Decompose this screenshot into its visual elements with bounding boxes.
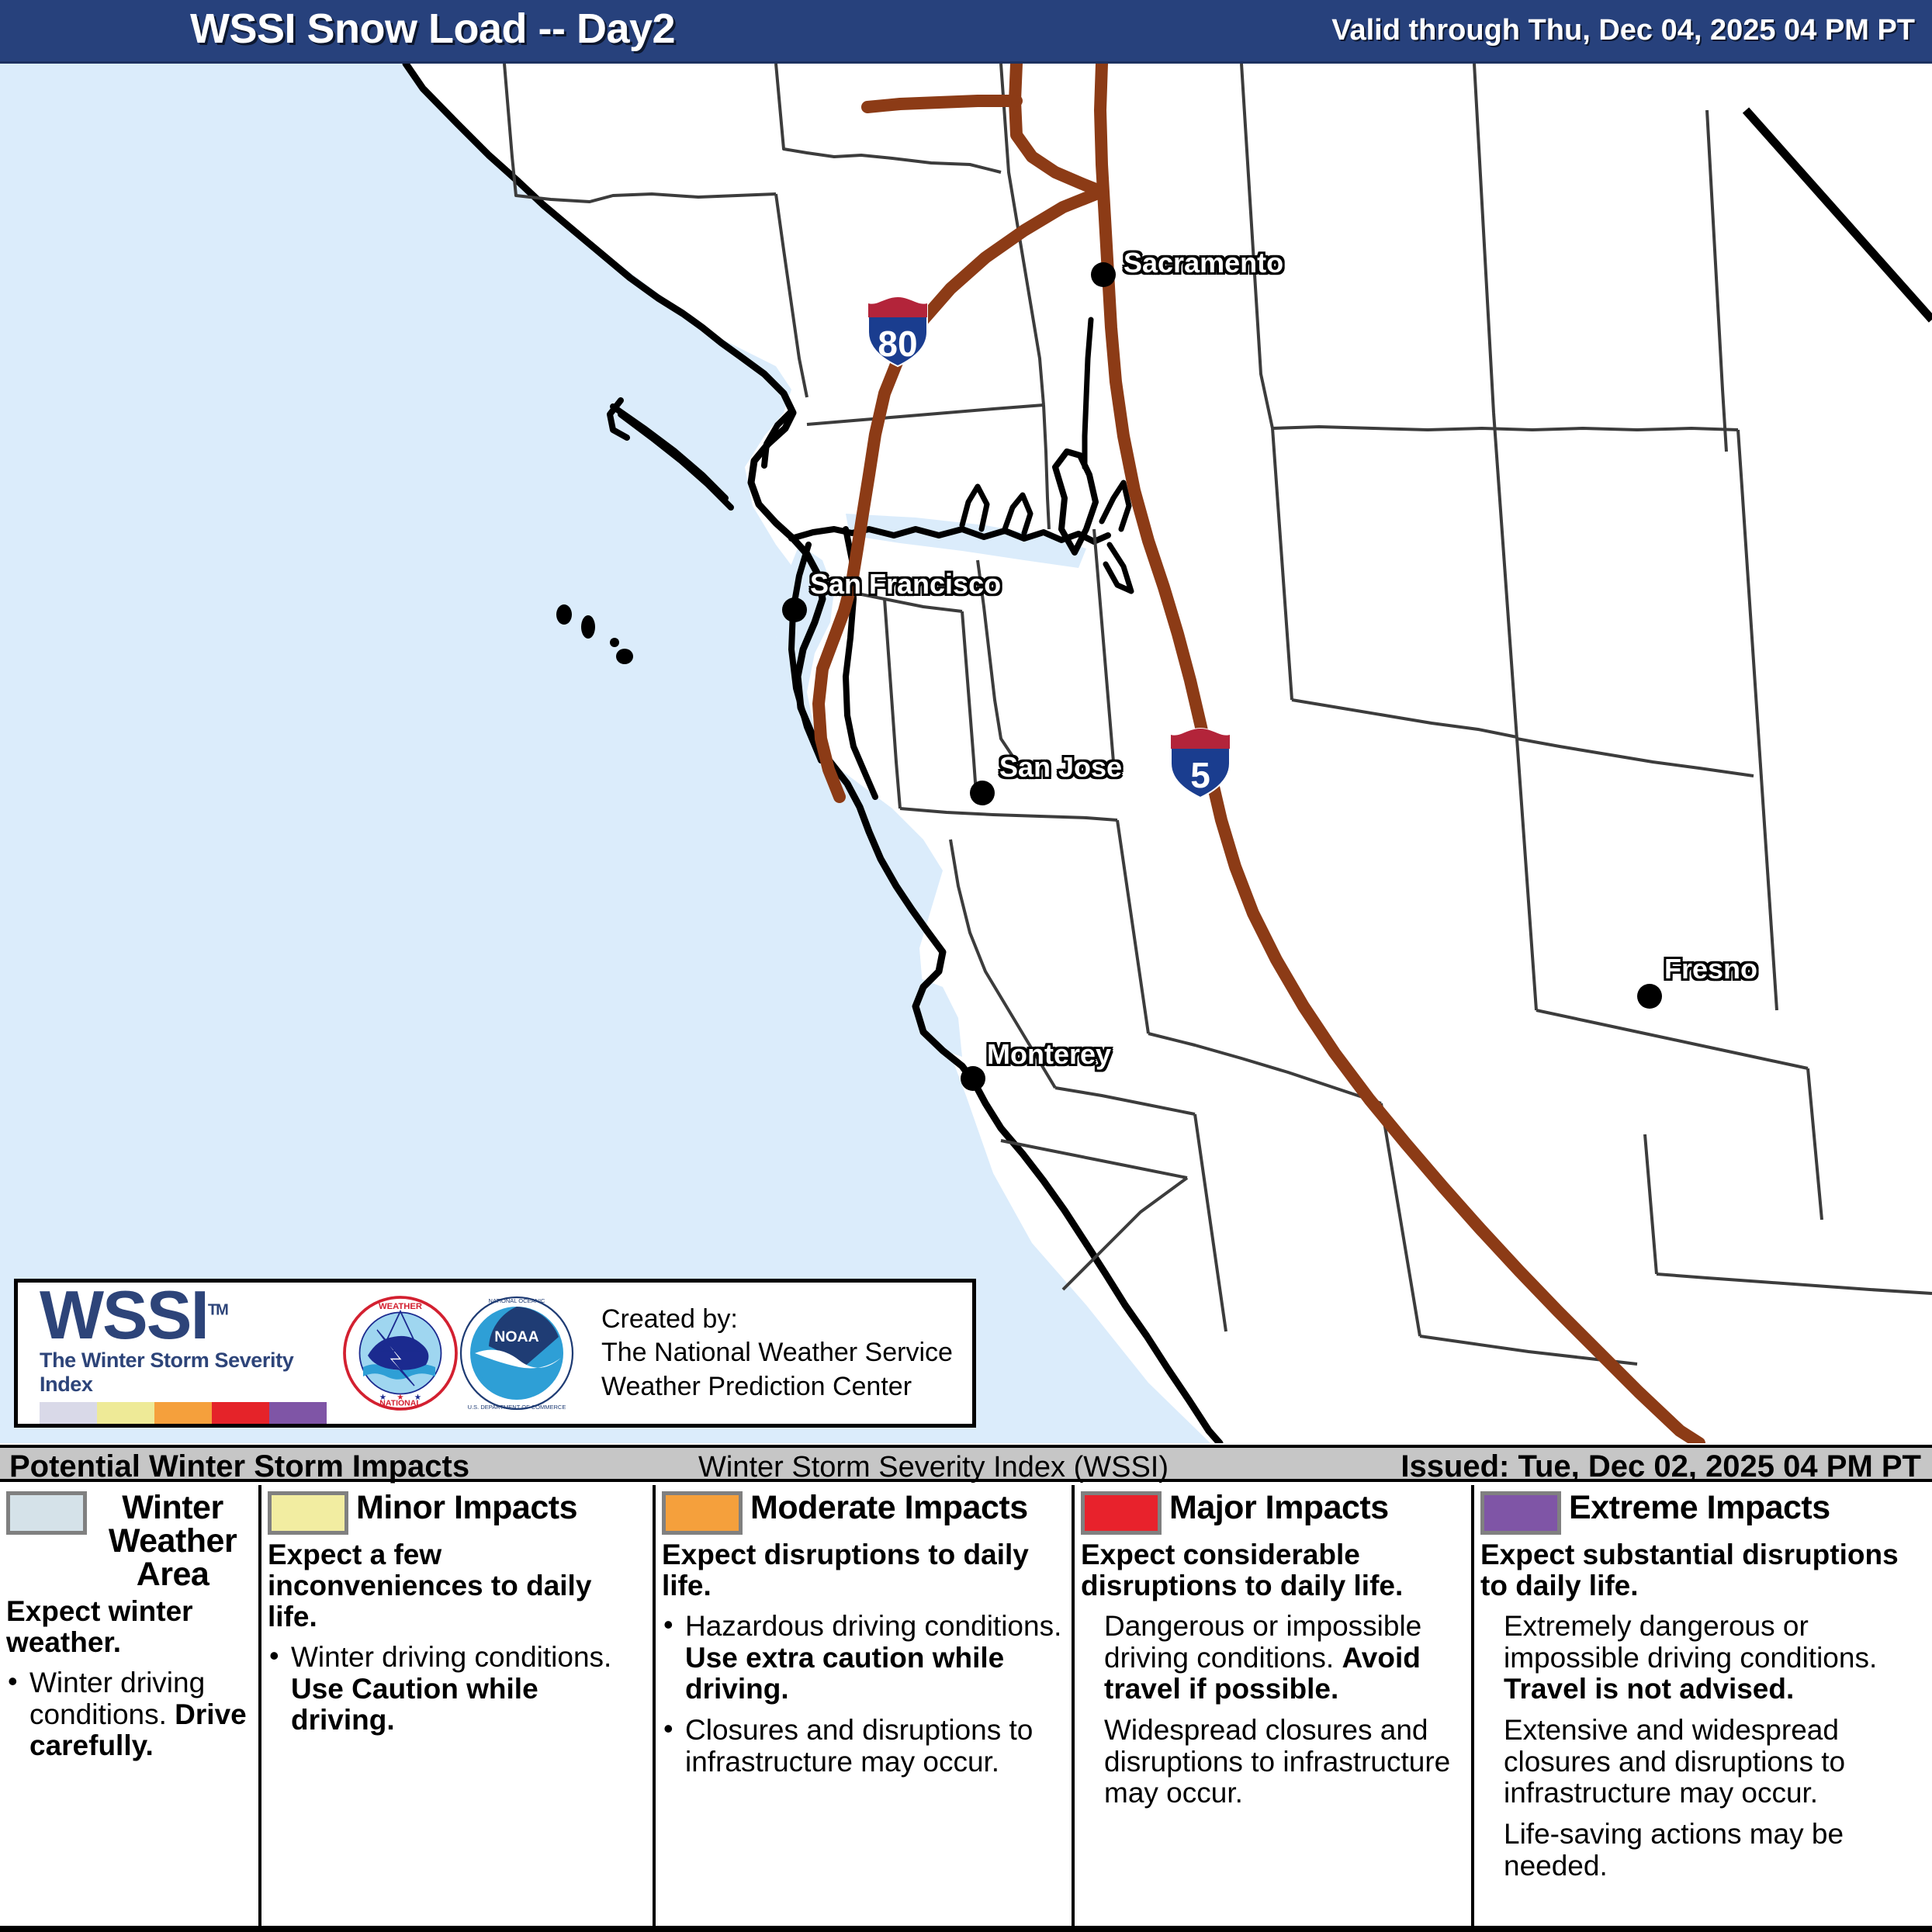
- wssi-attribution-box: WSSITM The Winter Storm Severity Index W…: [14, 1279, 976, 1428]
- swatch-major-impacts: [1081, 1491, 1162, 1535]
- list-item: Extremely dangerous or impossible drivin…: [1480, 1611, 1924, 1705]
- legend-title-moderate-impacts: Moderate Impacts: [750, 1491, 1028, 1525]
- created-by-block: Created by: The National Weather Service…: [601, 1303, 953, 1404]
- list-item: Dangerous or impossible driving conditio…: [1081, 1611, 1463, 1705]
- interstate-number-5: 5: [1170, 754, 1231, 796]
- issued-label: Issued: Tue, Dec 02, 2025 04 PM PT: [1401, 1449, 1921, 1484]
- legend-bullets-minor-impacts: Winter driving conditions. Use Caution w…: [268, 1642, 645, 1736]
- colorbar-swatch-winter: [40, 1402, 97, 1424]
- legend-bullets-winter-weather-area: Winter driving conditions. Drive careful…: [6, 1667, 251, 1762]
- legend-header: Moderate Impacts: [662, 1491, 1064, 1535]
- svg-text:★: ★: [379, 1393, 387, 1402]
- header-bar: WSSI Snow Load -- Day2 Valid through Thu…: [0, 0, 1932, 64]
- legend-title-major-impacts: Major Impacts: [1169, 1491, 1389, 1525]
- legend-bullets-extreme-impacts: Extremely dangerous or impossible drivin…: [1480, 1611, 1924, 1882]
- potential-impacts-label: Potential Winter Storm Impacts: [9, 1449, 469, 1484]
- bullet-text: Hazardous driving conditions.: [685, 1610, 1061, 1642]
- colorbar-swatch-major: [212, 1402, 269, 1424]
- interstate-shield-80: 80: [867, 296, 928, 368]
- list-item: Extensive and widespread closures and di…: [1480, 1715, 1924, 1809]
- swatch-extreme-impacts: [1480, 1491, 1561, 1535]
- list-item: Widespread closures and disruptions to i…: [1081, 1715, 1463, 1809]
- legend-column-minor-impacts[interactable]: Minor Impacts Expect a few inconvenience…: [261, 1485, 656, 1926]
- bullet-emphasis: Use Caution while driving.: [291, 1673, 538, 1736]
- valid-through-label: Valid through Thu, Dec 04, 2025 04 PM PT: [1331, 14, 1915, 47]
- legend-column-winter-weather-area[interactable]: Winter Weather Area Expect winter weathe…: [0, 1485, 261, 1926]
- legend-header: Extreme Impacts: [1480, 1491, 1924, 1535]
- list-item: Life-saving actions may be needed.: [1480, 1819, 1924, 1882]
- legend-bullets-moderate-impacts: Hazardous driving conditions. Use extra …: [662, 1611, 1064, 1778]
- legend-lead-moderate-impacts: Expect disruptions to daily life.: [662, 1539, 1064, 1601]
- bullet-text: Extremely dangerous or impossible drivin…: [1504, 1610, 1877, 1674]
- created-by-agency: The National Weather Service: [601, 1336, 953, 1370]
- wssi-severity-colorbar: [40, 1402, 327, 1424]
- bullet-emphasis: Travel is not advised.: [1504, 1673, 1794, 1705]
- legend-header: Minor Impacts: [268, 1491, 645, 1535]
- legend-bullets-major-impacts: Dangerous or impossible driving conditio…: [1081, 1611, 1463, 1809]
- legend-column-extreme-impacts[interactable]: Extreme Impacts Expect substantial disru…: [1474, 1485, 1932, 1926]
- status-strip: Potential Winter Storm Impacts Winter St…: [0, 1445, 1932, 1482]
- city-dot-fresno: [1637, 984, 1662, 1009]
- created-by-center: Weather Prediction Center: [601, 1370, 953, 1404]
- legend-lead-extreme-impacts: Expect substantial disruptions to daily …: [1480, 1539, 1924, 1601]
- bullet-text: Extensive and widespread closures and di…: [1504, 1714, 1845, 1809]
- svg-text:U.S. DEPARTMENT OF COMMERCE: U.S. DEPARTMENT OF COMMERCE: [468, 1404, 566, 1411]
- national-weather-service-seal-icon: WEATHER NATIONAL ★ ★ ★: [342, 1295, 459, 1411]
- interstate-number-80: 80: [867, 323, 928, 365]
- list-item: Hazardous driving conditions. Use extra …: [662, 1611, 1064, 1705]
- swatch-minor-impacts: [268, 1491, 348, 1535]
- trademark-icon: TM: [208, 1301, 227, 1318]
- list-item: Winter driving conditions. Drive careful…: [6, 1667, 251, 1762]
- island-dot: [616, 649, 633, 664]
- city-dot-san-francisco: [782, 597, 807, 622]
- swatch-winter-weather-area: [6, 1491, 87, 1535]
- forecast-map[interactable]: Sacramento San Francisco San Jose Monter…: [0, 64, 1932, 1443]
- colorbar-swatch-extreme: [269, 1402, 327, 1424]
- list-item: Closures and disruptions to infrastructu…: [662, 1715, 1064, 1778]
- wssi-name-label: Winter Storm Severity Index (WSSI): [698, 1451, 1169, 1484]
- wssi-subtitle: The Winter Storm Severity Index: [40, 1349, 342, 1397]
- legend-lead-major-impacts: Expect considerable disruptions to daily…: [1081, 1539, 1463, 1601]
- bullet-emphasis: Use extra caution while driving.: [685, 1642, 1004, 1705]
- created-by-label: Created by:: [601, 1303, 953, 1337]
- bullet-text: Life-saving actions may be needed.: [1504, 1818, 1844, 1882]
- svg-text:NOAA: NOAA: [494, 1328, 538, 1345]
- impact-legend: Winter Weather Area Expect winter weathe…: [0, 1485, 1932, 1932]
- legend-lead-minor-impacts: Expect a few inconveniences to daily lif…: [268, 1539, 645, 1633]
- legend-column-moderate-impacts[interactable]: Moderate Impacts Expect disruptions to d…: [656, 1485, 1075, 1926]
- bullet-text: Closures and disruptions to infrastructu…: [685, 1714, 1033, 1778]
- svg-text:NATIONAL OCEANIC: NATIONAL OCEANIC: [489, 1297, 546, 1304]
- swatch-moderate-impacts: [662, 1491, 743, 1535]
- colorbar-swatch-moderate: [154, 1402, 212, 1424]
- island-dot: [556, 604, 572, 625]
- svg-text:★: ★: [396, 1393, 404, 1402]
- svg-text:WEATHER: WEATHER: [379, 1302, 422, 1311]
- svg-text:★: ★: [414, 1393, 422, 1402]
- city-dot-san-jose: [970, 781, 995, 805]
- wssi-wordmark-text: WSSI: [40, 1276, 208, 1353]
- legend-title-minor-impacts: Minor Impacts: [356, 1491, 577, 1525]
- noaa-seal-icon: NOAA NATIONAL OCEANIC U.S. DEPARTMENT OF…: [459, 1295, 575, 1411]
- city-dot-monterey: [961, 1066, 985, 1091]
- legend-title-extreme-impacts: Extreme Impacts: [1569, 1491, 1830, 1525]
- legend-column-major-impacts[interactable]: Major Impacts Expect considerable disrup…: [1075, 1485, 1474, 1926]
- island-dot: [610, 638, 619, 647]
- legend-lead-winter-weather-area: Expect winter weather.: [6, 1596, 251, 1658]
- city-dot-sacramento: [1091, 262, 1116, 287]
- interstate-shield-5: 5: [1170, 728, 1231, 799]
- map-graphic: [0, 64, 1932, 1443]
- legend-title-winter-weather-area: Winter Weather Area: [95, 1491, 251, 1591]
- colorbar-swatch-minor: [97, 1402, 154, 1424]
- page-title: WSSI Snow Load -- Day2: [190, 5, 675, 53]
- list-item: Winter driving conditions. Use Caution w…: [268, 1642, 645, 1736]
- island-dot: [581, 615, 595, 639]
- bullet-text: Winter driving conditions.: [291, 1641, 611, 1673]
- wssi-logo: WSSITM The Winter Storm Severity Index: [40, 1283, 342, 1425]
- wssi-wordmark: WSSITM: [40, 1283, 227, 1348]
- legend-header: Major Impacts: [1081, 1491, 1463, 1535]
- legend-header: Winter Weather Area: [6, 1491, 251, 1591]
- bullet-text: Widespread closures and disruptions to i…: [1104, 1714, 1450, 1809]
- route-i80-branch: [867, 101, 1016, 107]
